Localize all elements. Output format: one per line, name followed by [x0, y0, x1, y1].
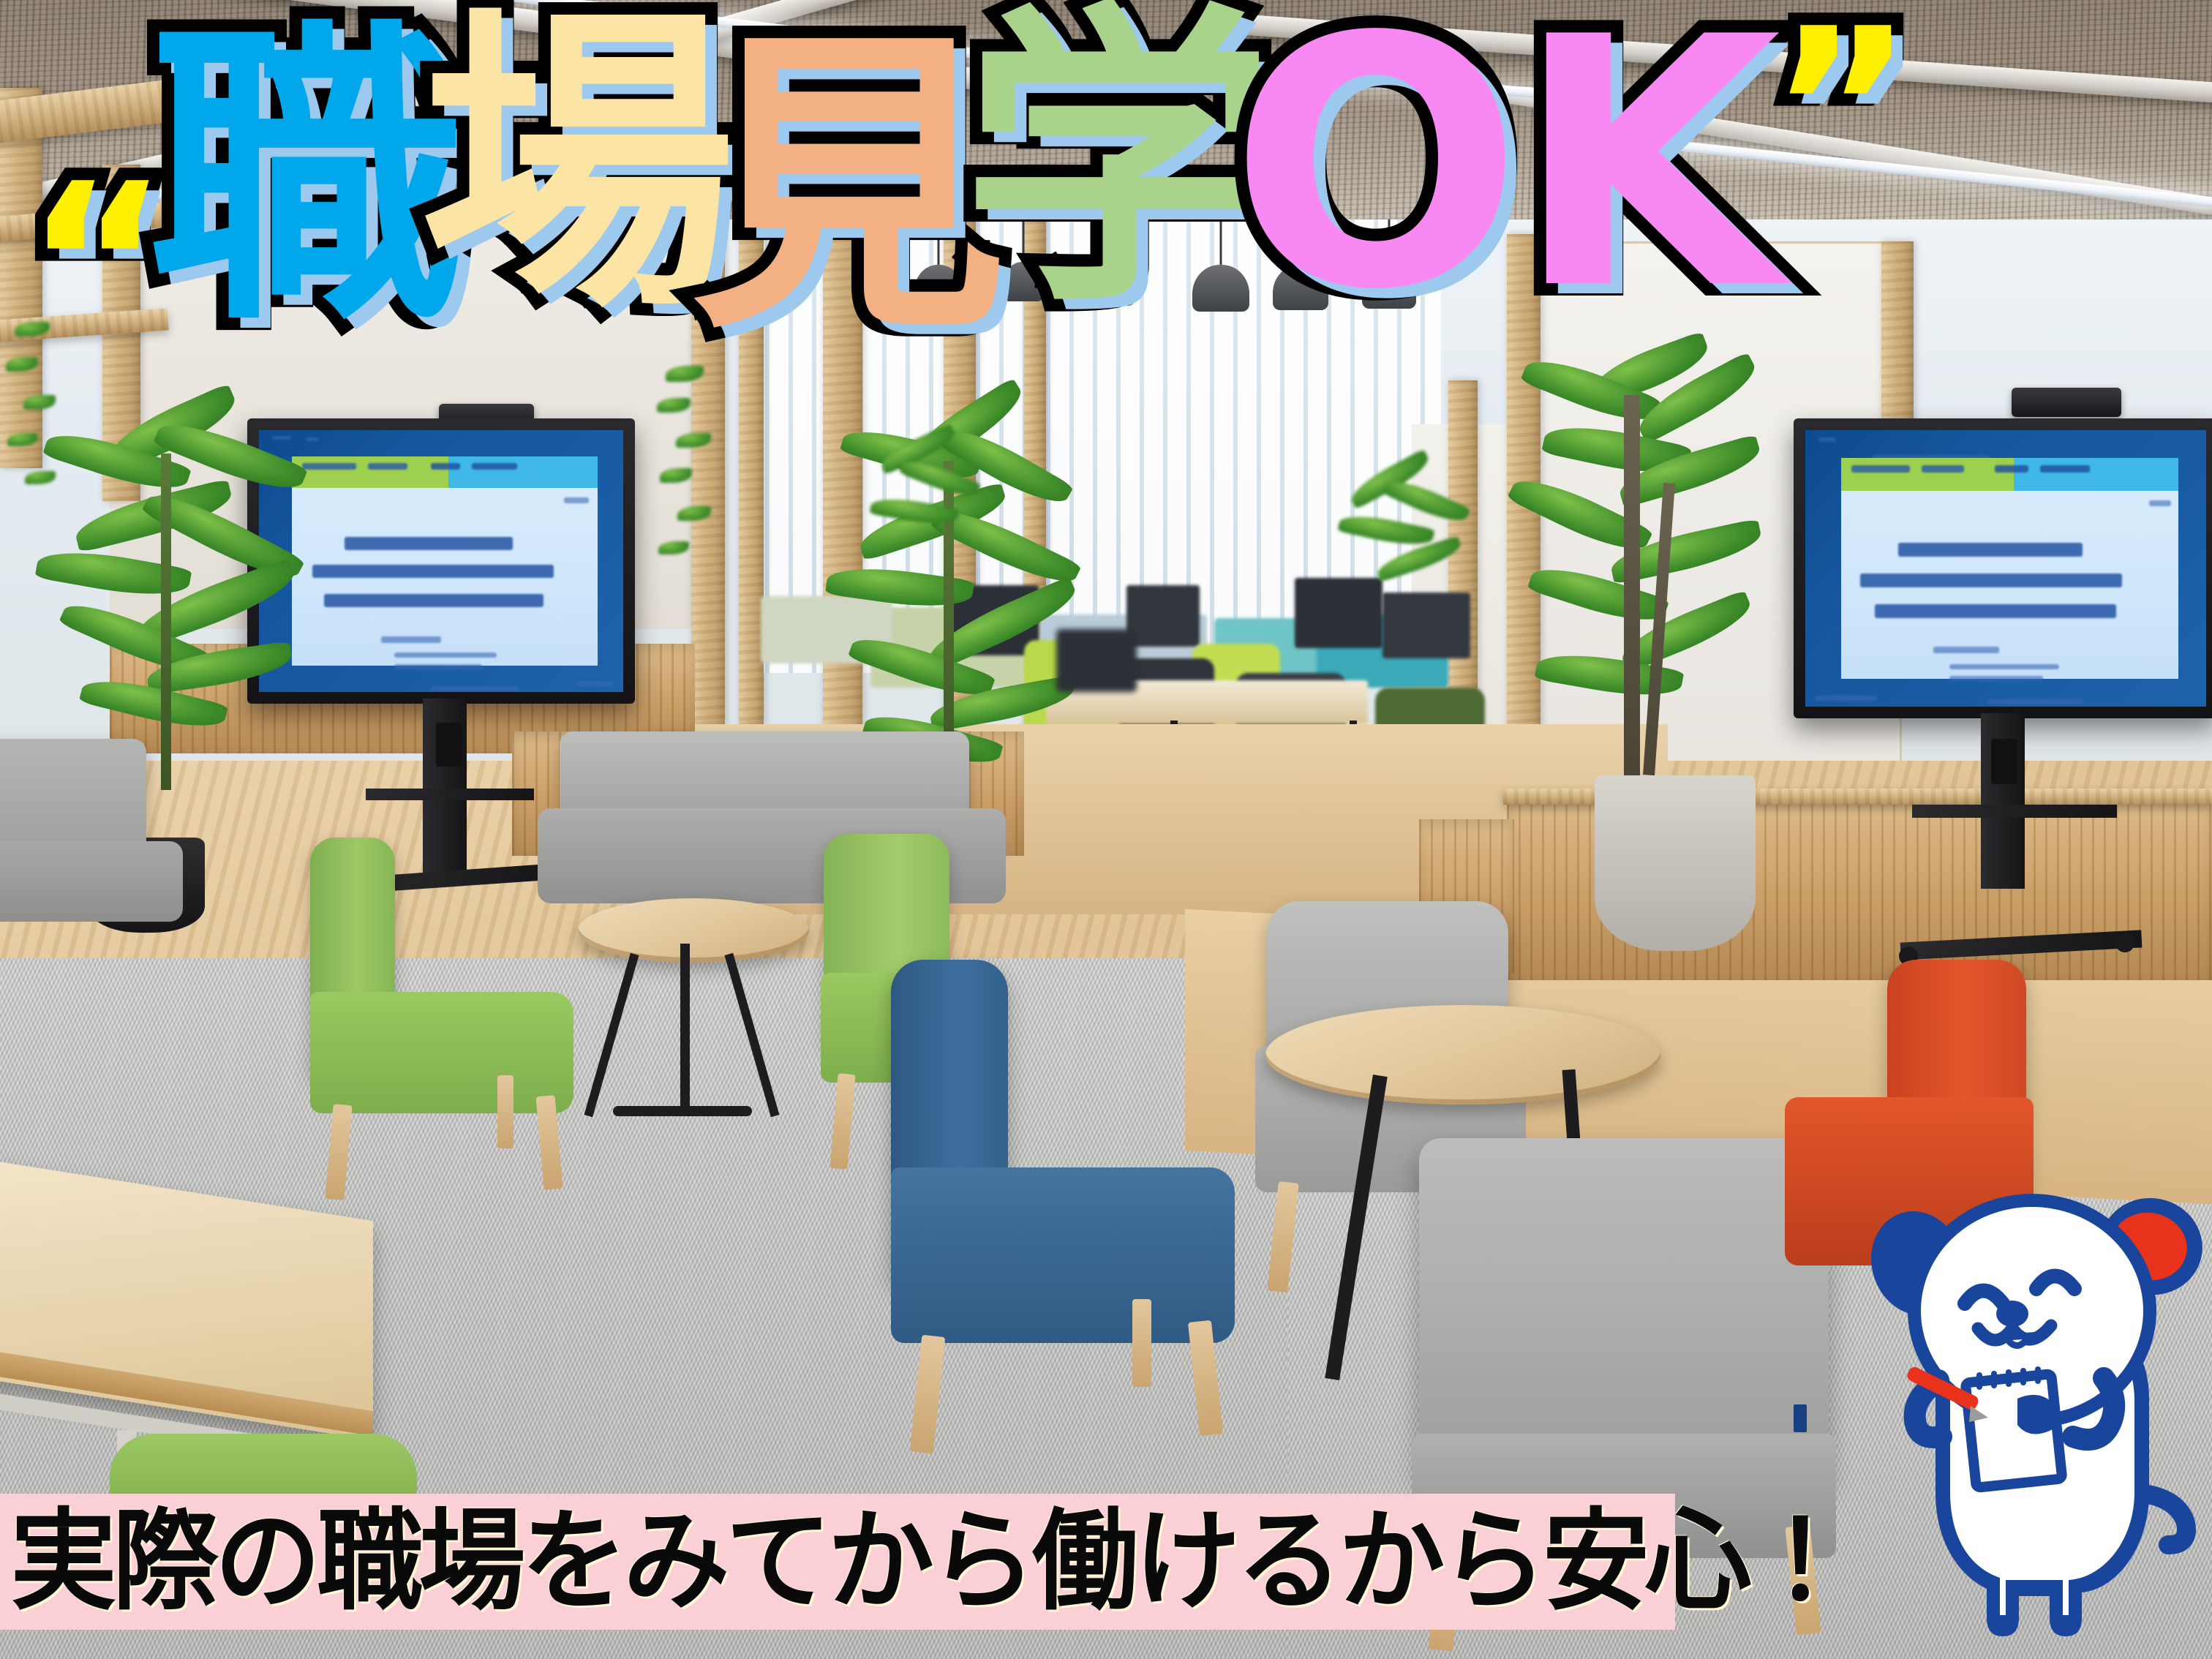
- pendant-lamp: [1273, 219, 1328, 310]
- fabric-tag: [1794, 1404, 1807, 1432]
- round-side-table: [578, 898, 809, 963]
- chair-leg: [497, 1075, 513, 1148]
- right-display[interactable]: [1794, 418, 2212, 718]
- stand-caster: [2115, 933, 2134, 952]
- pendant-lamp: [914, 219, 963, 307]
- pendant-lamp: [1002, 219, 1045, 301]
- hanging-ivy: [644, 366, 731, 600]
- poster-root: “ 職 場 見 学 OK ” 実際の職場をみてから働けるから安心！: [0, 0, 2212, 1659]
- plant-small-back: [1339, 468, 1470, 614]
- right-webcam: [2012, 388, 2121, 417]
- pendant-lamp: [1088, 219, 1135, 306]
- green-lounge-chair-left-seat: [310, 992, 573, 1113]
- blue-lounge-chair-seat: [891, 1167, 1235, 1343]
- speaker: [1991, 739, 2017, 784]
- grey-lounge-chair-front-back: [1419, 1138, 1829, 1482]
- plant-small-back: [870, 439, 980, 571]
- speaker: [436, 723, 462, 767]
- bottom-banner: 実際の職場をみてから働けるから安心！: [0, 1494, 1675, 1630]
- background-monitor: [1056, 629, 1137, 692]
- round-coffee-table: [1265, 1005, 1660, 1105]
- office-monitor: [1126, 585, 1200, 647]
- mascot-tongue: [2006, 1336, 2029, 1346]
- bottom-banner-text: 実際の職場をみてから働けるから安心！: [10, 1507, 1849, 1617]
- left-slide: [292, 456, 598, 666]
- plant-pot-concrete: [1595, 775, 1756, 951]
- left-display-shelf: [366, 789, 534, 800]
- mascot-tail: [2145, 1494, 2186, 1545]
- hanging-ivy: [0, 322, 73, 541]
- wood-post: [739, 212, 764, 724]
- slide-header-bar: [1841, 458, 2178, 491]
- plant-tree-right: [1507, 351, 1770, 805]
- grey-bench-sofa-left-seat: [0, 841, 183, 922]
- side-table-leg: [680, 944, 690, 1112]
- chair-leg: [1132, 1299, 1151, 1387]
- pendant-lamp: [1362, 219, 1416, 309]
- right-slide: [1841, 458, 2178, 679]
- dog-mascot: [1862, 1179, 2206, 1647]
- side-table-foot: [613, 1106, 752, 1116]
- pendant-lamp: [1192, 219, 1249, 312]
- grey-bench-sofa-mid: [560, 731, 969, 819]
- right-display-shelf: [1912, 805, 2117, 818]
- slide-header-bar: [292, 456, 598, 488]
- right-display-screen: [1805, 430, 2206, 707]
